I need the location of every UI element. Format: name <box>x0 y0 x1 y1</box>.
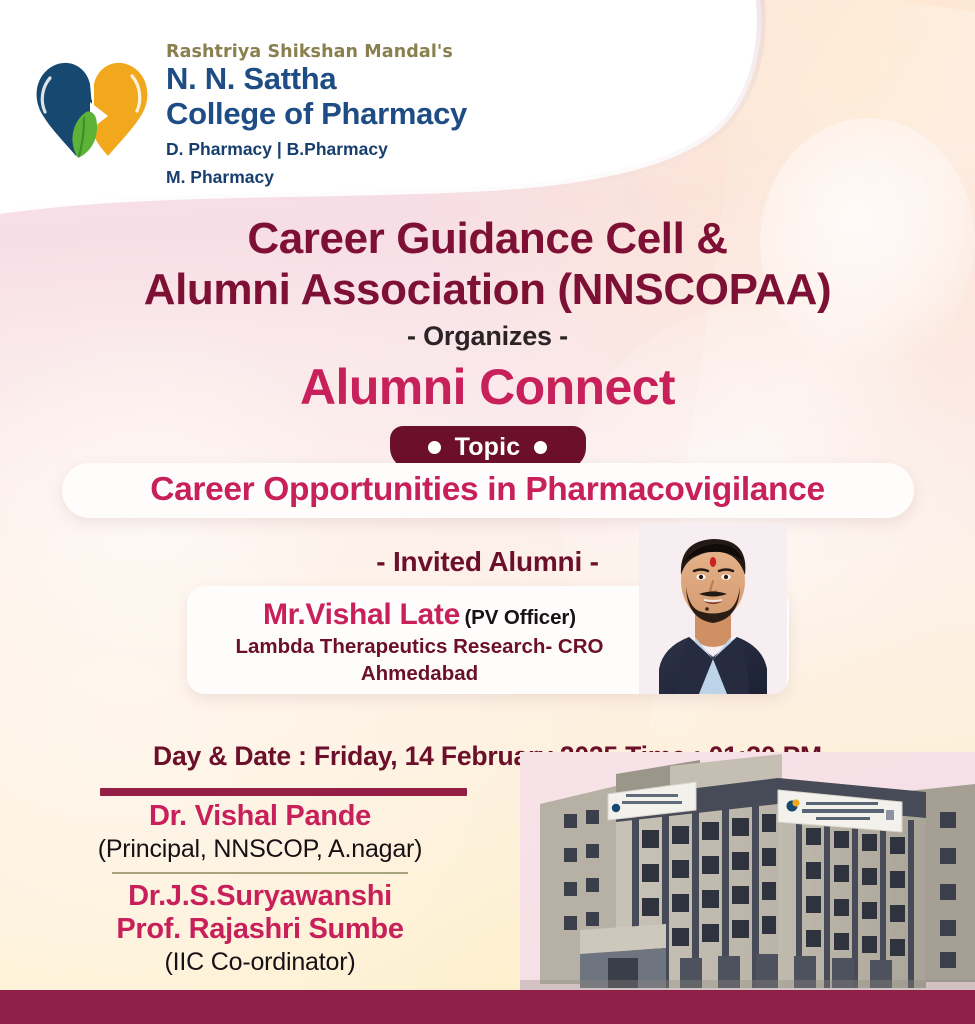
credit-coordinator-role: (IIC Co-ordinator) <box>0 947 520 977</box>
event-name: Alumni Connect <box>0 358 975 416</box>
footer-bar <box>0 990 975 1024</box>
heart-leaf-logo-icon <box>28 56 156 168</box>
topic-badge-label: Topic <box>455 433 521 462</box>
organizes-label: - Organizes - <box>0 321 975 352</box>
invited-alumni-label: - Invited Alumni - <box>0 546 975 578</box>
badge-dot-right-icon <box>534 441 547 454</box>
credit-coordinator-name-2: Prof. Rajashri Sumbe <box>0 913 520 947</box>
brand-tagline: Rashtriya Shikshan Mandal's <box>166 42 616 62</box>
main-content: Career Guidance Cell & Alumni Associatio… <box>0 205 975 694</box>
organizer-line2: Alumni Association (NNSCOPAA) <box>0 264 975 315</box>
college-building-photo <box>520 752 975 990</box>
college-logo-text: Rashtriya Shikshan Mandal's N. N. Sattha… <box>166 42 616 189</box>
speaker-card: Mr.Vishal Late (PV Officer) Lambda Thera… <box>187 586 789 694</box>
speaker-portrait <box>639 523 787 694</box>
organizer-title: Career Guidance Cell & Alumni Associatio… <box>0 213 975 316</box>
speaker-name-row: Mr.Vishal Late (PV Officer) <box>205 598 635 632</box>
speaker-name: Mr.Vishal Late <box>263 598 460 631</box>
degrees-line2: M. Pharmacy <box>166 166 616 189</box>
credit-coordinator-name-1: Dr.J.S.Suryawanshi <box>0 880 520 914</box>
degrees-line1: D. Pharmacy | B.Pharmacy <box>166 138 616 161</box>
credit-principal-name: Dr. Vishal Pande <box>0 800 520 834</box>
credits-divider <box>112 872 408 874</box>
college-name-line1: N. N. Sattha <box>166 62 616 97</box>
credit-principal-role: (Principal, NNSCOP, A.nagar) <box>0 834 520 864</box>
badge-dot-left-icon <box>428 441 441 454</box>
topic-pill: Career Opportunities in Pharmacovigilanc… <box>62 463 914 518</box>
college-logo-block: Rashtriya Shikshan Mandal's N. N. Sattha… <box>28 42 608 177</box>
section-divider-bar <box>100 788 467 796</box>
speaker-details: Mr.Vishal Late (PV Officer) Lambda Thera… <box>205 598 635 686</box>
organizer-line1: Career Guidance Cell & <box>0 213 975 264</box>
poster-canvas: Rashtriya Shikshan Mandal's N. N. Sattha… <box>0 0 975 1024</box>
credits-block: Dr. Vishal Pande (Principal, NNSCOP, A.n… <box>0 800 520 977</box>
speaker-city: Ahmedabad <box>205 661 635 686</box>
speaker-organization: Lambda Therapeutics Research- CRO <box>205 634 635 659</box>
speaker-role: (PV Officer) <box>464 606 576 629</box>
college-name-line2: College of Pharmacy <box>166 97 616 132</box>
topic-title: Career Opportunities in Pharmacovigilanc… <box>150 471 824 509</box>
